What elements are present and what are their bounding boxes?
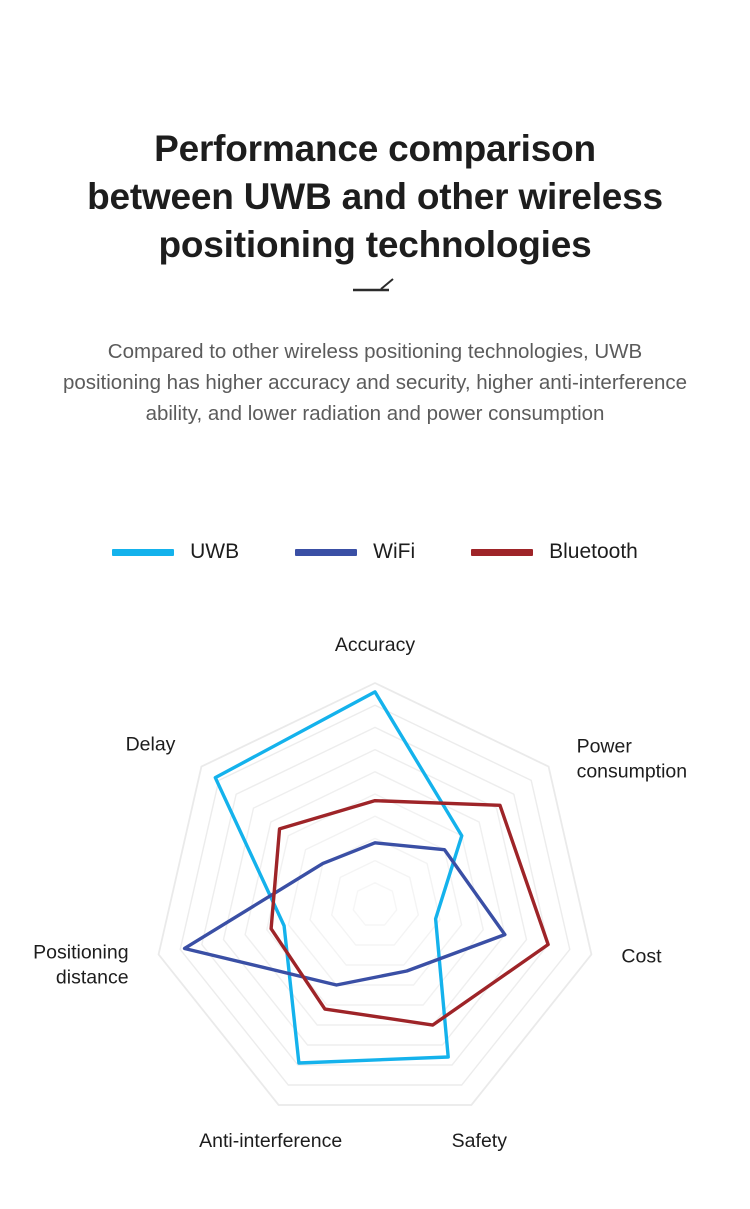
radar-axis-label-accuracy: Accuracy	[335, 634, 415, 656]
radar-grid-ring	[353, 883, 396, 925]
radar-grid-ring	[159, 683, 592, 1105]
radar-axis-label-power-consumption: Powerconsumption	[577, 736, 688, 783]
legend-label-uwb: UWB	[190, 540, 239, 564]
legend-swatch-uwb	[112, 549, 174, 556]
radar-axis-label-anti-interference: Anti-interference	[199, 1130, 342, 1152]
radar-axis-label-safety: Safety	[452, 1130, 508, 1152]
radar-grid-ring	[310, 838, 440, 965]
legend-label-bluetooth: Bluetooth	[549, 540, 638, 564]
radar-grid-ring	[332, 861, 419, 945]
arrow-divider-icon	[345, 272, 405, 298]
radar-chart-svg: AccuracyPowerconsumptionCostSafetyAnti-i…	[0, 612, 750, 1192]
arrow-divider	[0, 272, 750, 298]
radar-series-bluetooth[interactable]	[271, 801, 548, 1025]
radar-axis-label-delay: Delay	[126, 734, 176, 756]
legend-item-wifi[interactable]: WiFi	[295, 540, 415, 564]
chart-legend: UWB WiFi Bluetooth	[0, 540, 750, 564]
legend-item-bluetooth[interactable]: Bluetooth	[471, 540, 638, 564]
page-root: Performance comparison between UWB and o…	[0, 0, 750, 1209]
legend-label-wifi: WiFi	[373, 540, 415, 564]
radar-axis-label-positioning-distance: Positioningdistance	[33, 941, 128, 988]
page-subtitle: Compared to other wireless positioning t…	[0, 336, 750, 429]
page-title: Performance comparison between UWB and o…	[0, 125, 750, 269]
page-title-line-1: Performance comparison	[34, 125, 716, 173]
legend-swatch-wifi	[295, 549, 357, 556]
page-title-line-2: between UWB and other wireless	[34, 173, 716, 221]
legend-item-uwb[interactable]: UWB	[112, 540, 239, 564]
radar-axis-label-cost: Cost	[621, 945, 662, 967]
legend-swatch-bluetooth	[471, 549, 533, 556]
radar-grid	[159, 683, 592, 1105]
page-title-line-3: positioning technologies	[34, 221, 716, 269]
radar-grid-ring	[180, 705, 570, 1085]
radar-grid-ring	[245, 772, 505, 1025]
radar-chart: AccuracyPowerconsumptionCostSafetyAnti-i…	[0, 612, 750, 1192]
